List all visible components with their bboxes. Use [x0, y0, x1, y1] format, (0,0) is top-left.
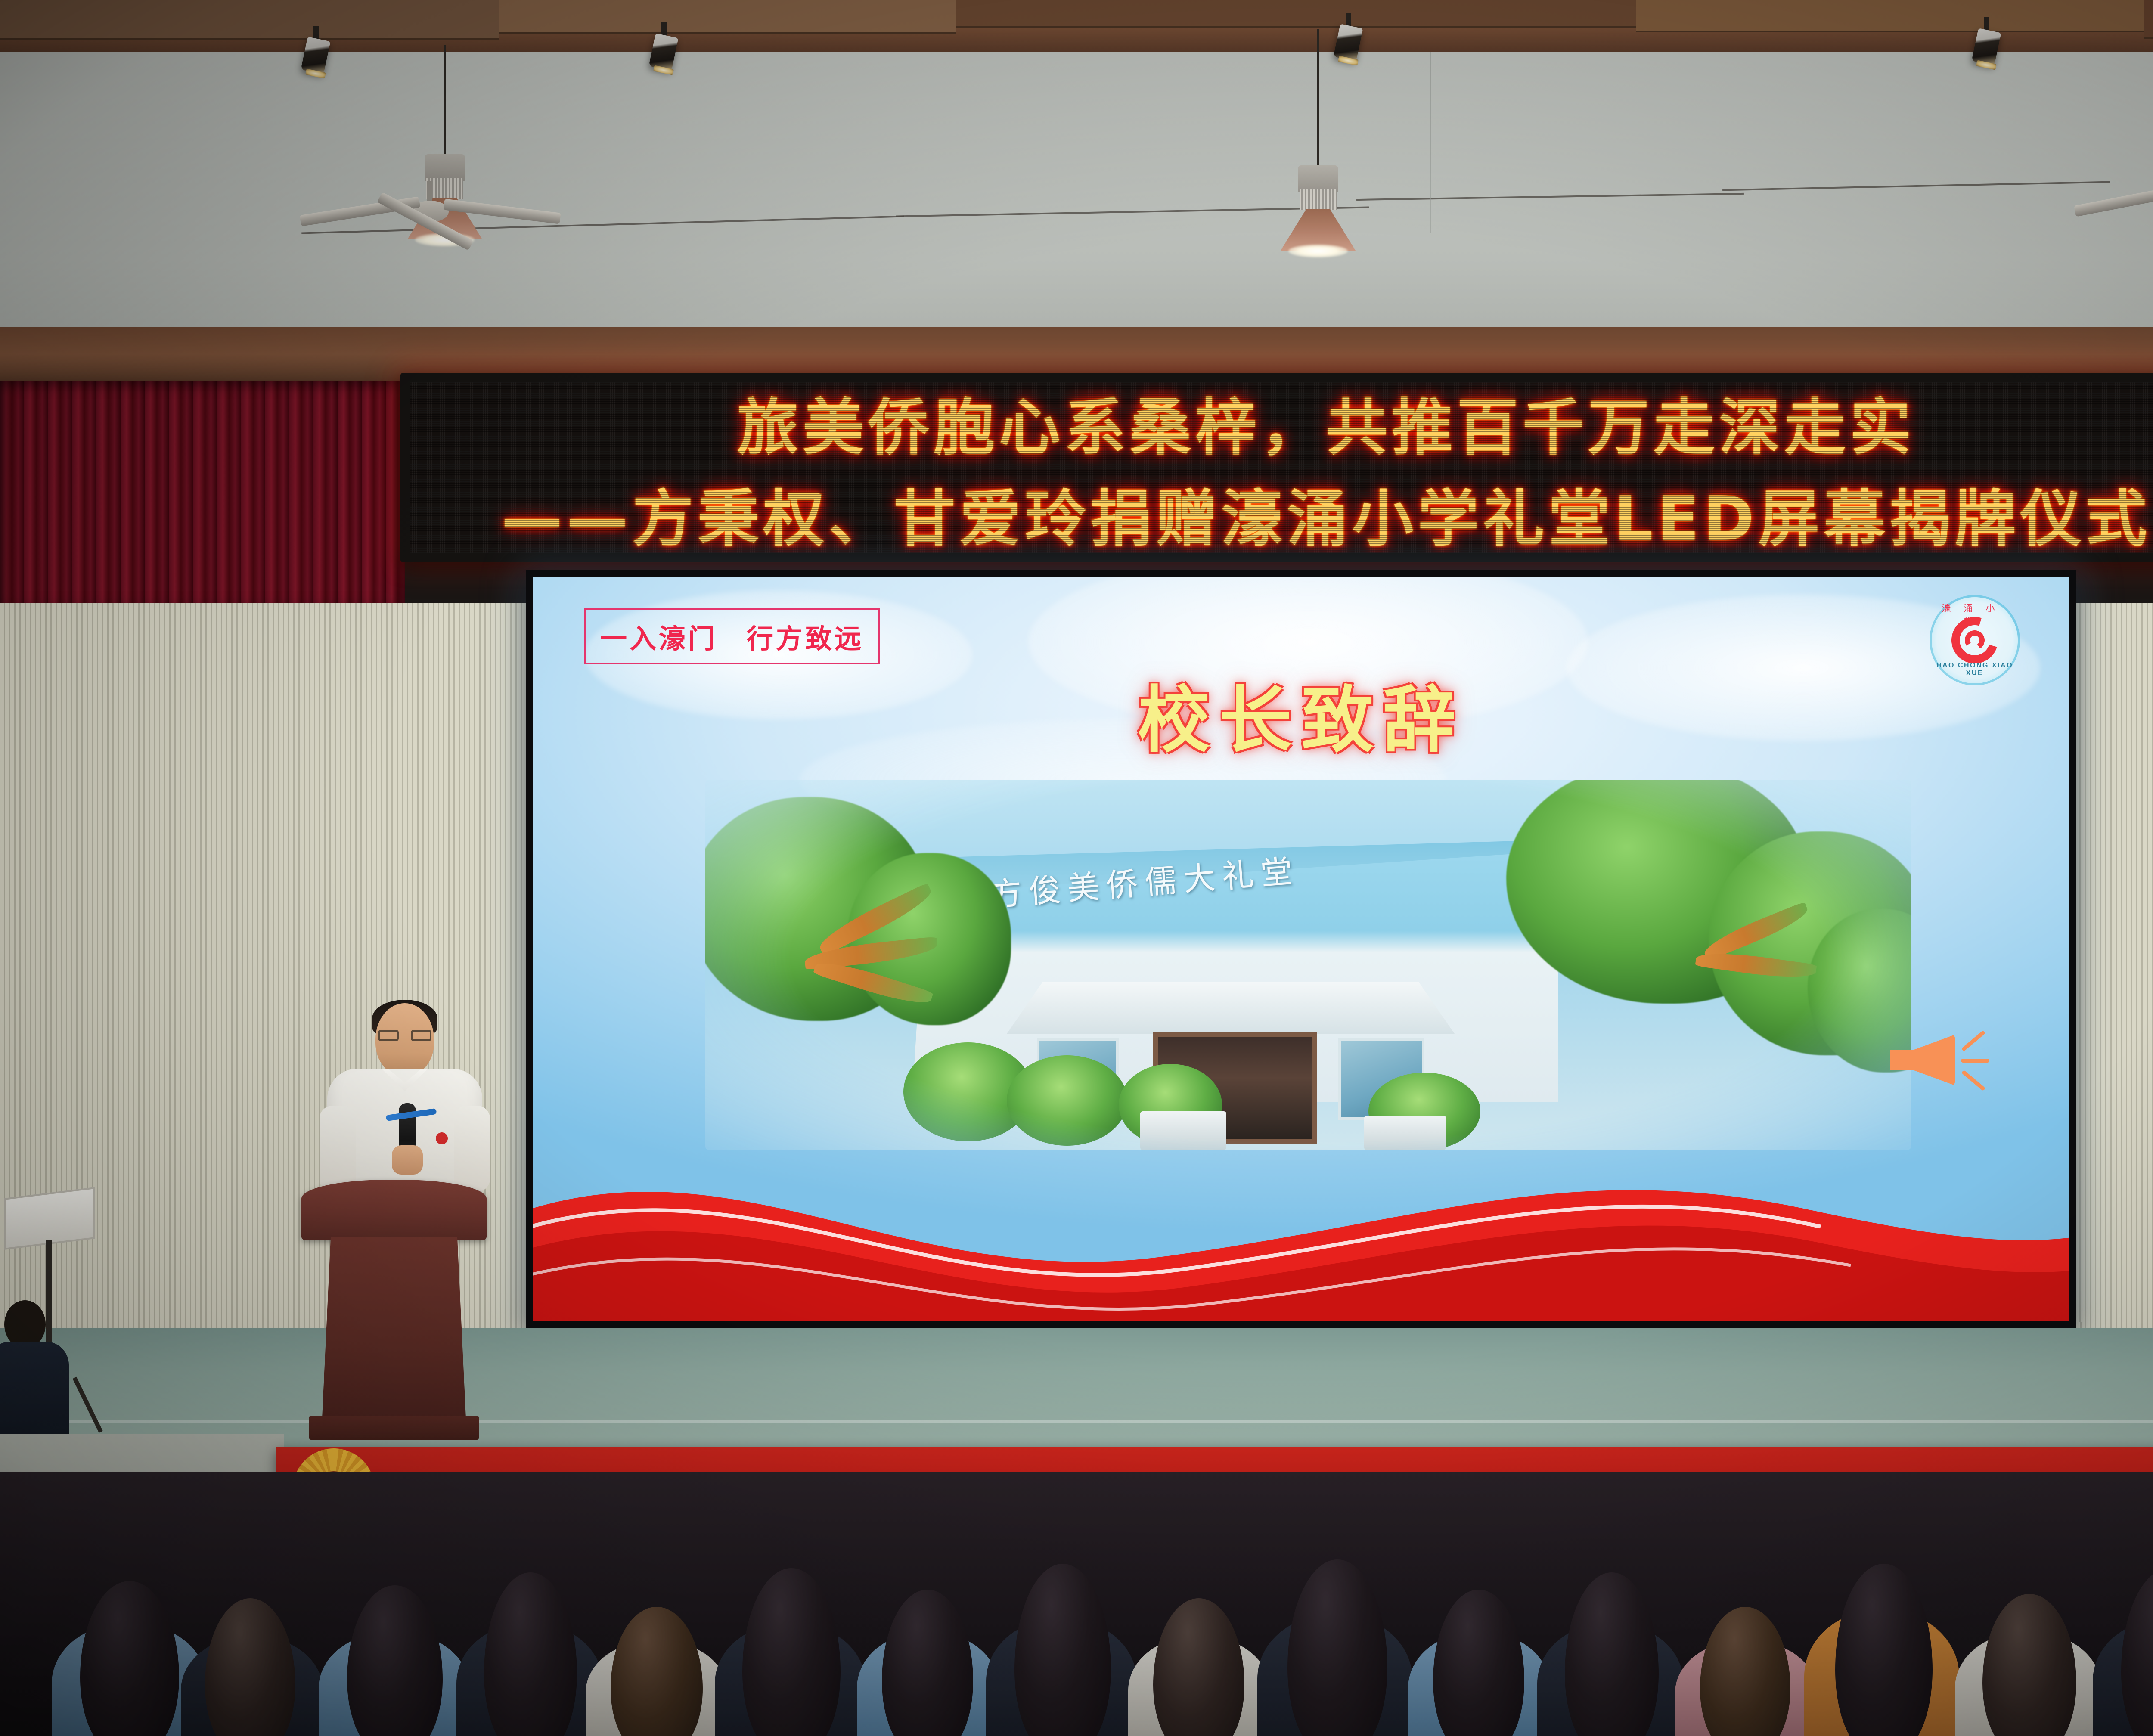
led-banner-line-1: 旅美侨胞心系桑梓，共推百千万走深走实: [737, 378, 1915, 466]
lapel-badge: [436, 1132, 448, 1144]
presentation-screen: 一入濠门 行方致远 濠涌小学 HAO CHONG XIAO XUE 校长致辞 方…: [526, 570, 2076, 1328]
podium: [301, 1180, 487, 1447]
school-emblem-inner-swirl-icon: [1963, 629, 1987, 652]
stage-spotlight: [652, 22, 675, 74]
assembly-hall-photo: 旅美侨胞心系桑梓，共推百千万走深走实 ——方秉权、甘爱玲捐赠濠涌小学礼堂LED屏…: [0, 0, 2153, 1736]
presenter-right-arm: [454, 1106, 490, 1192]
ceiling-fan: [2080, 169, 2153, 220]
megaphone-icon: [1890, 1020, 1989, 1102]
podium-body: [322, 1237, 466, 1418]
ceiling-fan: [301, 181, 560, 232]
audience-area: [0, 1472, 2153, 1736]
led-scrolling-banner: 旅美侨胞心系桑梓，共推百千万走深走实 ——方秉权、甘爱玲捐赠濠涌小学礼堂LED屏…: [400, 373, 2153, 562]
stage-curtain-left: [0, 381, 405, 622]
stage-spotlight: [304, 26, 327, 77]
led-banner-line-2: ——方秉权、甘爱玲捐赠濠涌小学礼堂LED屏幕揭牌仪式: [501, 469, 2151, 558]
stage-spotlight: [1975, 17, 1998, 69]
red-wave-ribbon: [533, 1149, 2069, 1321]
presenter-left-arm: [320, 1106, 356, 1192]
seated-attendee: [0, 1300, 69, 1447]
slide-title: 校长致辞: [533, 662, 2069, 766]
podium-base: [309, 1416, 479, 1440]
presenter-glasses-icon: [378, 1030, 431, 1041]
podium-top: [301, 1180, 487, 1240]
donated-hall-photo: 方俊美侨儒大礼堂: [705, 780, 1911, 1150]
stage-spotlight: [1337, 13, 1360, 65]
slide-content: 一入濠门 行方致远 濠涌小学 HAO CHONG XIAO XUE 校长致辞 方…: [533, 577, 2069, 1321]
stage-wall-panel-right: [2075, 603, 2153, 1335]
school-motto: 一入濠门 行方致远: [584, 608, 880, 664]
presenter-hand: [392, 1145, 423, 1175]
